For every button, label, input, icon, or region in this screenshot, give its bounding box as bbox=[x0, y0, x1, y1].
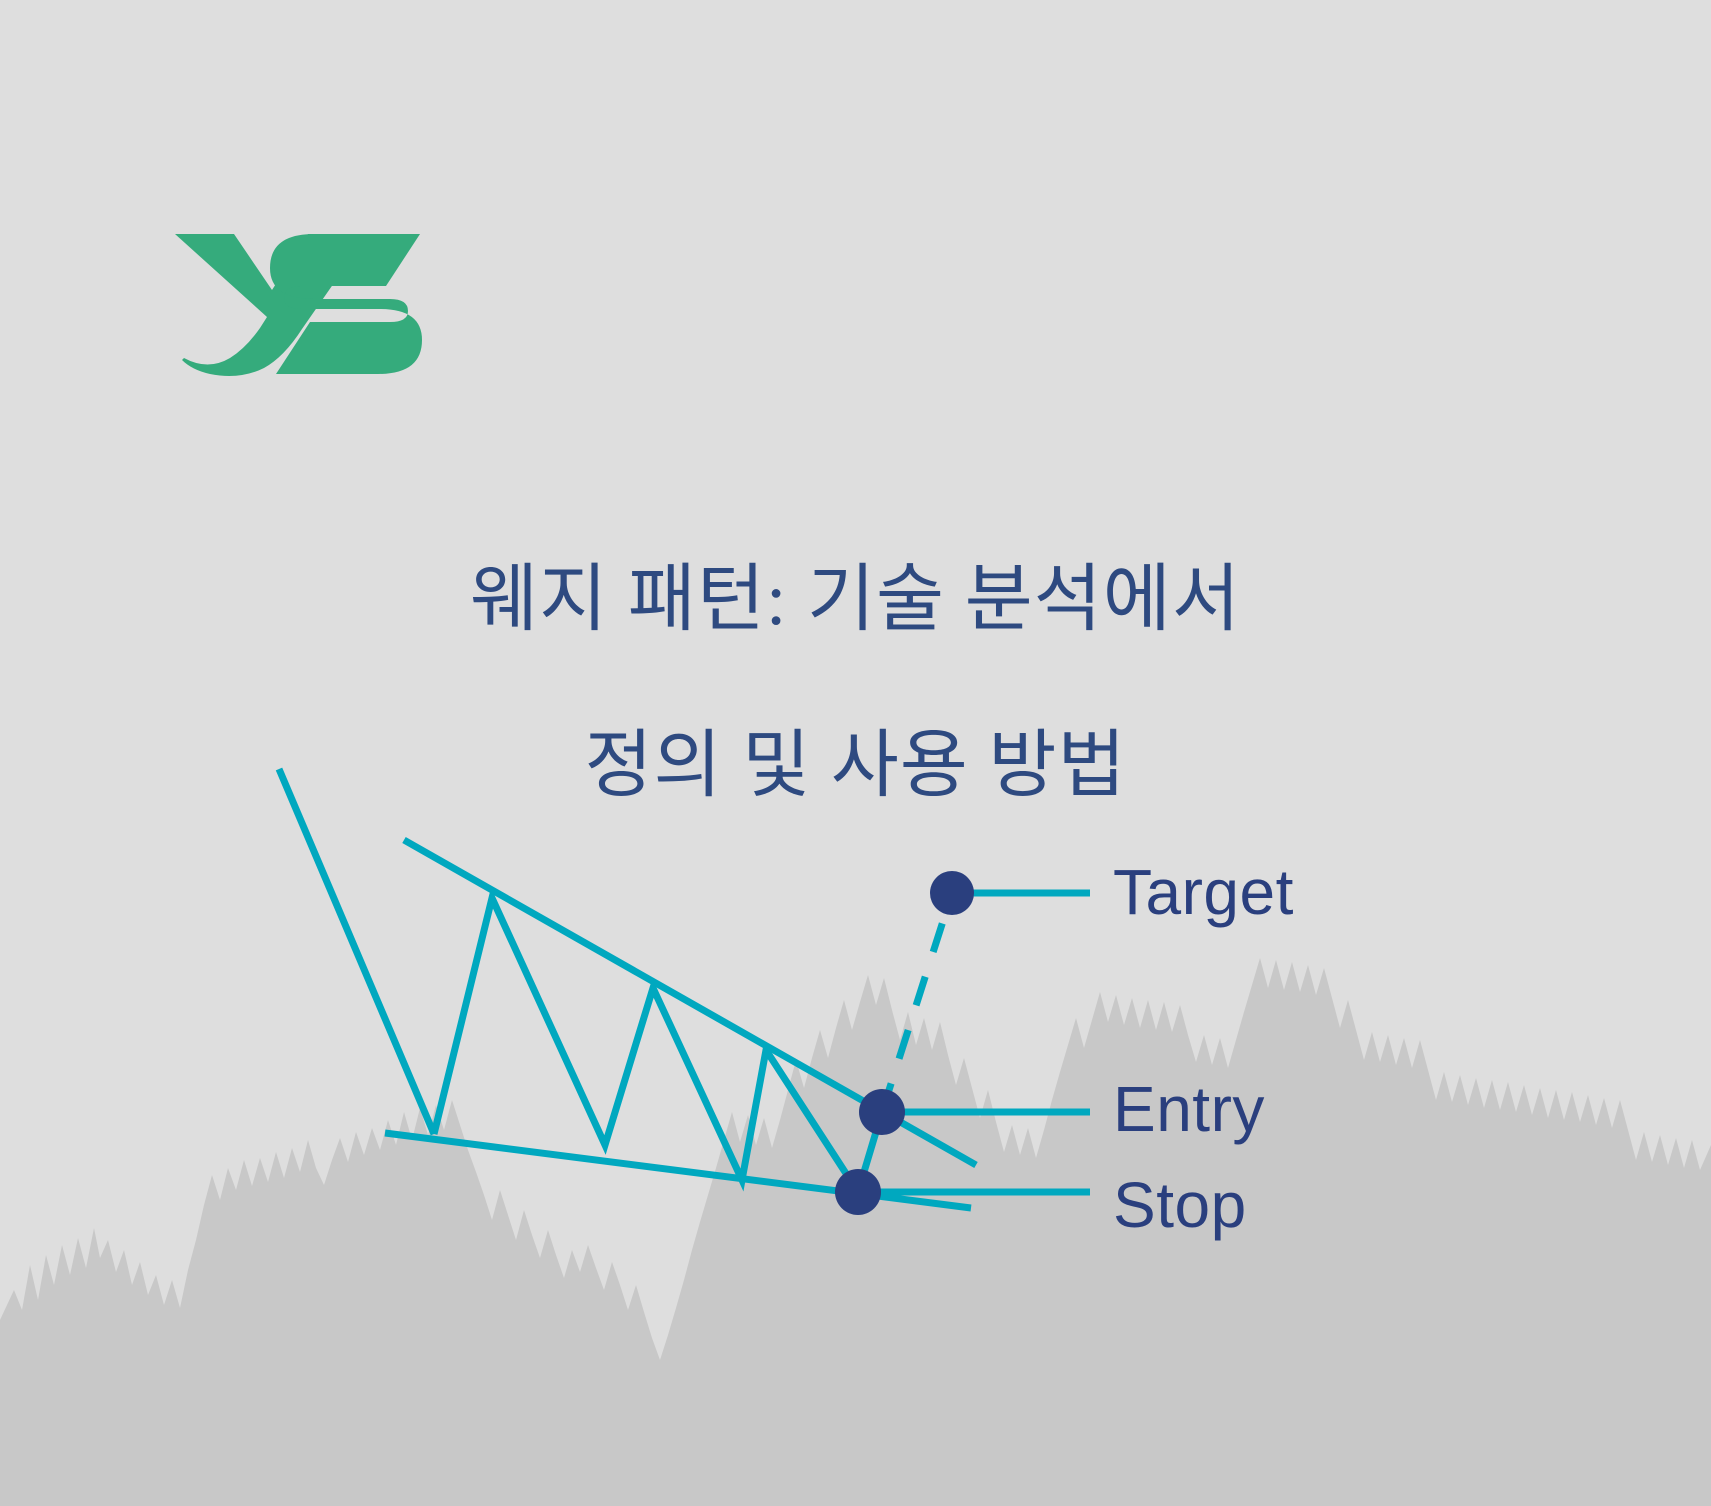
price-zigzag-line bbox=[434, 898, 882, 1192]
poster-canvas: 웨지 패턴: 기술 분석에서 정의 및 사용 방법 Target Entry bbox=[0, 0, 1711, 1506]
background-area-path bbox=[0, 958, 1711, 1506]
target-label: Target bbox=[1113, 855, 1294, 929]
page-title-line-1: 웨지 패턴: 기술 분석에서 bbox=[0, 559, 1711, 642]
stop-marker[interactable] bbox=[835, 1169, 881, 1215]
page-title: 웨지 패턴: 기술 분석에서 정의 및 사용 방법 bbox=[0, 476, 1711, 890]
entry-marker[interactable] bbox=[859, 1089, 905, 1135]
entry-label: Entry bbox=[1113, 1072, 1265, 1146]
logo-letter-s bbox=[270, 234, 422, 374]
lower-trendline bbox=[385, 1133, 971, 1208]
page-title-line-2: 정의 및 사용 방법 bbox=[0, 725, 1711, 808]
breakout-projection-dashed-line bbox=[882, 893, 952, 1112]
xs-logo[interactable] bbox=[172, 228, 422, 380]
stop-label: Stop bbox=[1113, 1168, 1247, 1242]
